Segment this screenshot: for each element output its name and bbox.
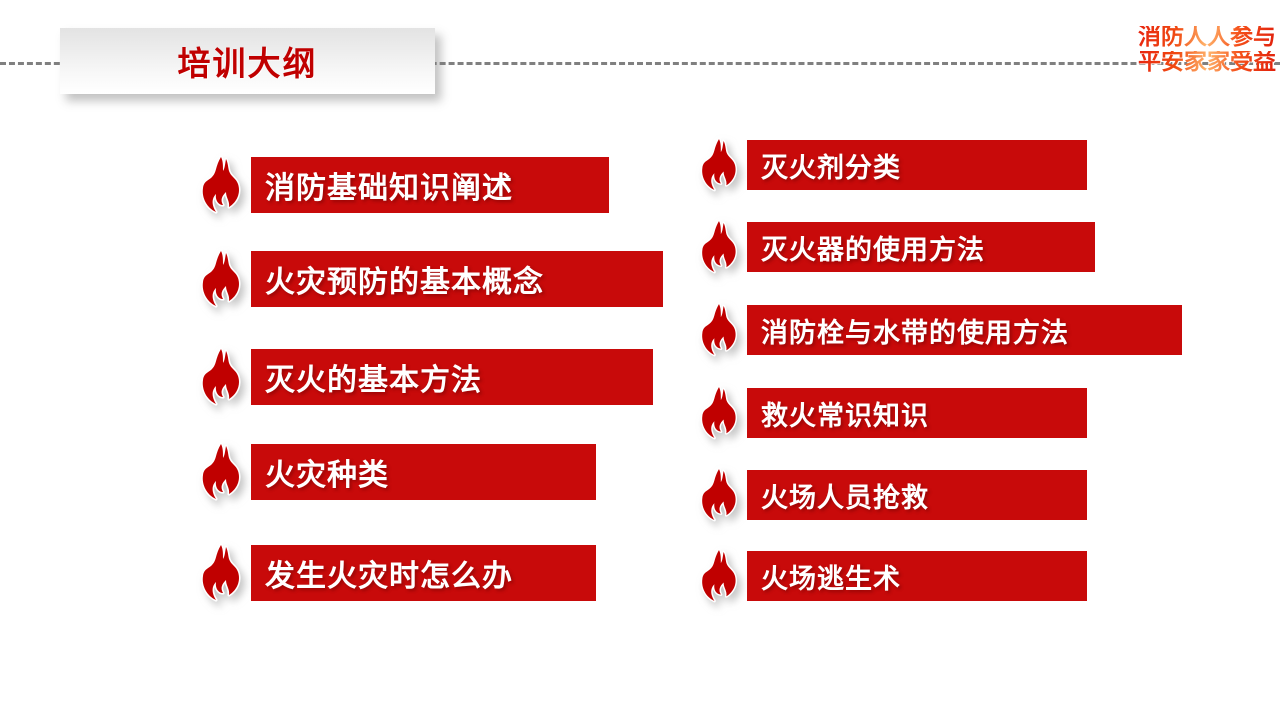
flame-icon [195,155,247,215]
outline-item-bar[interactable]: 灭火剂分类 [747,140,1087,190]
outline-item-bar[interactable]: 救火常识知识 [747,388,1087,438]
outline-item-bar[interactable]: 消防栓与水带的使用方法 [747,305,1182,355]
outline-item-label: 火灾预防的基本概念 [265,257,544,301]
outline-item-bar[interactable]: 灭火器的使用方法 [747,222,1095,272]
flame-icon [695,137,743,193]
outline-item[interactable]: 火场人员抢救 [695,470,1087,520]
outline-item-label: 灭火剂分类 [761,146,901,185]
flame-icon [695,302,743,358]
outline-item-label: 发生火灾时怎么办 [265,551,513,595]
outline-item[interactable]: 灭火的基本方法 [195,349,653,405]
flame-icon [695,219,743,275]
outline-item[interactable]: 火灾种类 [195,444,596,500]
slogan-block: 消防人人参与 平安家家受益 [1138,26,1276,75]
flame-icon [195,249,247,309]
outline-item-label: 火场人员抢救 [761,476,929,515]
outline-item-bar[interactable]: 发生火灾时怎么办 [251,545,596,601]
outline-item-bar[interactable]: 火灾种类 [251,444,596,500]
slide-title-plate: 培训大纲 [60,28,435,94]
flame-icon [195,347,247,407]
outline-item-label: 消防栓与水带的使用方法 [761,311,1069,350]
outline-item-bar[interactable]: 火场逃生术 [747,551,1087,601]
outline-item[interactable]: 消防基础知识阐述 [195,157,609,213]
outline-item-label: 灭火器的使用方法 [761,228,985,267]
outline-item[interactable]: 火灾预防的基本概念 [195,251,663,307]
slogan-line-2: 平安家家受益 [1138,51,1276,74]
outline-item-label: 消防基础知识阐述 [265,163,513,207]
slide-canvas: 培训大纲 消防人人参与 平安家家受益 消防基础知识阐述火灾预防的基本概念灭火的基… [0,0,1280,720]
flame-icon [195,543,247,603]
outline-item[interactable]: 火场逃生术 [695,551,1087,601]
flame-icon [695,548,743,604]
outline-item[interactable]: 灭火剂分类 [695,140,1087,190]
outline-item-bar[interactable]: 火灾预防的基本概念 [251,251,663,307]
outline-item-label: 灭火的基本方法 [265,355,482,399]
flame-icon [195,442,247,502]
flame-icon [695,385,743,441]
outline-item-label: 火灾种类 [265,450,389,494]
flame-icon [695,467,743,523]
outline-item-bar[interactable]: 消防基础知识阐述 [251,157,609,213]
outline-item[interactable]: 灭火器的使用方法 [695,222,1095,272]
outline-item[interactable]: 救火常识知识 [695,388,1087,438]
outline-item-label: 救火常识知识 [761,394,929,433]
slogan-line-1: 消防人人参与 [1138,26,1276,49]
outline-item-bar[interactable]: 灭火的基本方法 [251,349,653,405]
outline-item-bar[interactable]: 火场人员抢救 [747,470,1087,520]
outline-item-label: 火场逃生术 [761,557,901,596]
outline-item[interactable]: 发生火灾时怎么办 [195,545,596,601]
outline-item[interactable]: 消防栓与水带的使用方法 [695,305,1182,355]
page-title: 培训大纲 [178,37,318,85]
